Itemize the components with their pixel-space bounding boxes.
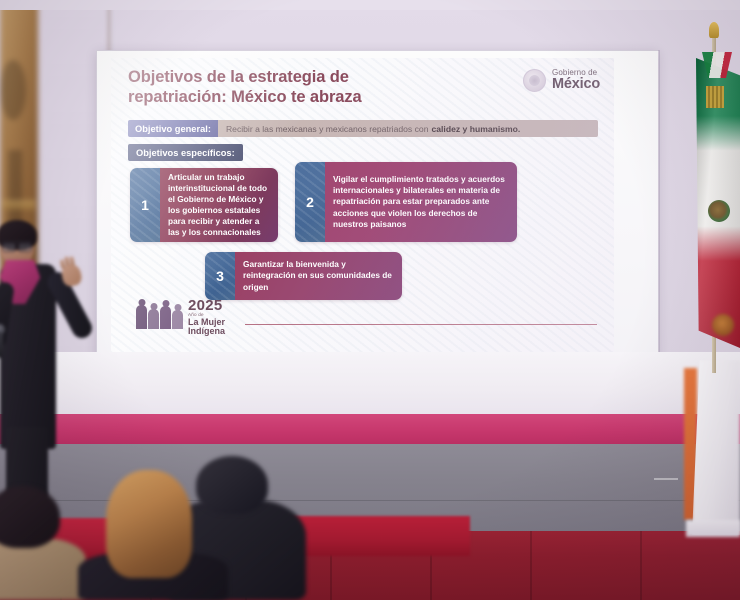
audience-member-right-head <box>196 456 268 514</box>
objetivo-box-2: 2 Vigilar el cumplimiento tratados y acu… <box>295 162 517 242</box>
speaker-glasses <box>2 241 32 250</box>
presentation-slide: Objetivos de la estrategia de repatriaci… <box>111 58 614 353</box>
objetivo-box-2-number: 2 <box>295 162 325 242</box>
objetivo-box-3-text: Garantizar la bienvenida y reintegración… <box>235 252 402 300</box>
coat-of-arms-seal-icon <box>523 69 546 92</box>
objetivo-general-row: Objetivo general: Recibir a las mexicana… <box>128 120 598 137</box>
objetivo-box-1-number: 1 <box>130 168 160 242</box>
objetivo-box-2-text: Vigilar el cumplimiento tratados y acuer… <box>325 162 517 242</box>
speaker <box>0 212 90 492</box>
ceiling-edge <box>0 0 740 10</box>
logo-line-mexico: México <box>552 77 600 92</box>
footer-divider-rule <box>245 324 597 325</box>
objetivos-especificos-label: Objetivos específicos: <box>128 144 243 161</box>
microphone-body <box>0 332 3 358</box>
podium-base <box>686 520 740 537</box>
flag-finial-icon <box>709 22 719 38</box>
stage-backdrop-white <box>0 352 740 414</box>
press-conference-scene: Objetivos de la estrategia de repatriaci… <box>0 0 740 600</box>
footer-line2: Indígena <box>188 327 225 336</box>
stage-floor-marker <box>654 478 678 480</box>
flag-stand-podium <box>692 360 740 535</box>
flag-eagle-emblem-icon <box>708 200 730 222</box>
audience-member-center-head <box>106 470 192 578</box>
objetivo-general-text-plain: Recibir a las mexicanas y mexicanos repa… <box>226 124 429 134</box>
objetivo-box-1-text: Articular un trabajo interinstitucional … <box>160 168 278 242</box>
flag-lower-seal <box>712 314 734 336</box>
footer-year: 2025 <box>188 298 225 313</box>
flag-gold-tassel <box>706 86 724 108</box>
objetivo-box-3: 3 Garantizar la bienvenida y reintegraci… <box>205 252 402 300</box>
objetivo-general-text-bold: calidez y humanismo. <box>431 124 520 134</box>
objetivo-general-text: Recibir a las mexicanas y mexicanos repa… <box>218 120 598 137</box>
gobierno-de-mexico-logo: Gobierno de México <box>523 69 600 92</box>
mexican-flag <box>690 28 740 373</box>
slide-title: Objetivos de la estrategia de repatriaci… <box>128 67 458 107</box>
objetivo-general-label: Objetivo general: <box>128 120 218 137</box>
slide-title-line1: Objetivos de la estrategia de <box>128 67 458 87</box>
objetivo-box-1: 1 Articular un trabajo interinstituciona… <box>130 168 278 242</box>
mujer-indigena-2025-logo: 2025 Año de La Mujer Indígena <box>136 298 225 336</box>
slide-title-line2: repatriación: México te abraza <box>128 87 458 107</box>
indigenous-women-figures-icon <box>136 305 183 329</box>
objetivo-box-3-number: 3 <box>205 252 235 300</box>
stage-skirt-pink <box>0 414 740 444</box>
